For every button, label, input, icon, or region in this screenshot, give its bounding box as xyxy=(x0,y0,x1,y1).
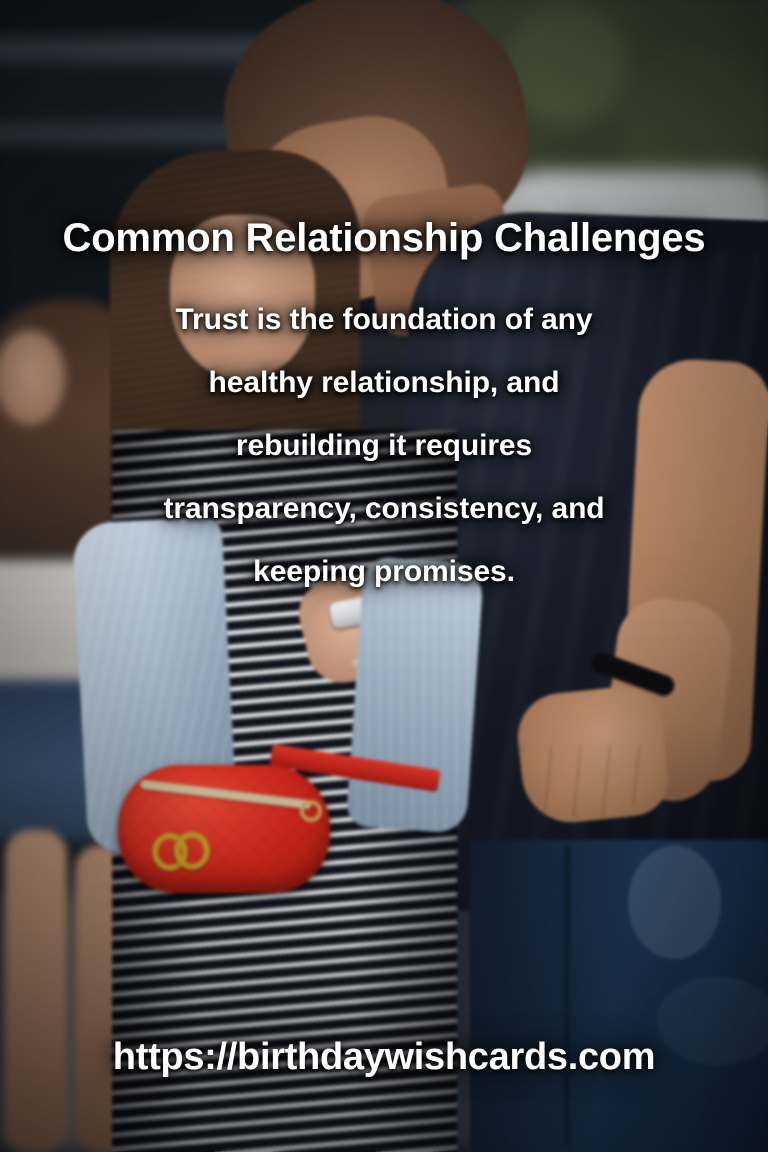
quote-card: Common Relationship Challenges Trust is … xyxy=(0,0,768,1152)
title-container: Common Relationship Challenges xyxy=(0,216,768,260)
quote-line-3: rebuilding it requires xyxy=(0,414,768,477)
quote-line-5: keeping promises. xyxy=(0,540,768,603)
quote-container: Trust is the foundation of any healthy r… xyxy=(0,288,768,603)
quote-line-4: transparency, consistency, and xyxy=(0,477,768,540)
quote-line-1: Trust is the foundation of any xyxy=(0,288,768,351)
quote-line-2: healthy relationship, and xyxy=(0,351,768,414)
website-url[interactable]: https://birthdaywishcards.com xyxy=(113,1036,655,1079)
text-overlay: Common Relationship Challenges Trust is … xyxy=(0,0,768,1152)
footer-container: https://birthdaywishcards.com xyxy=(0,1036,768,1079)
card-title: Common Relationship Challenges xyxy=(63,216,706,260)
